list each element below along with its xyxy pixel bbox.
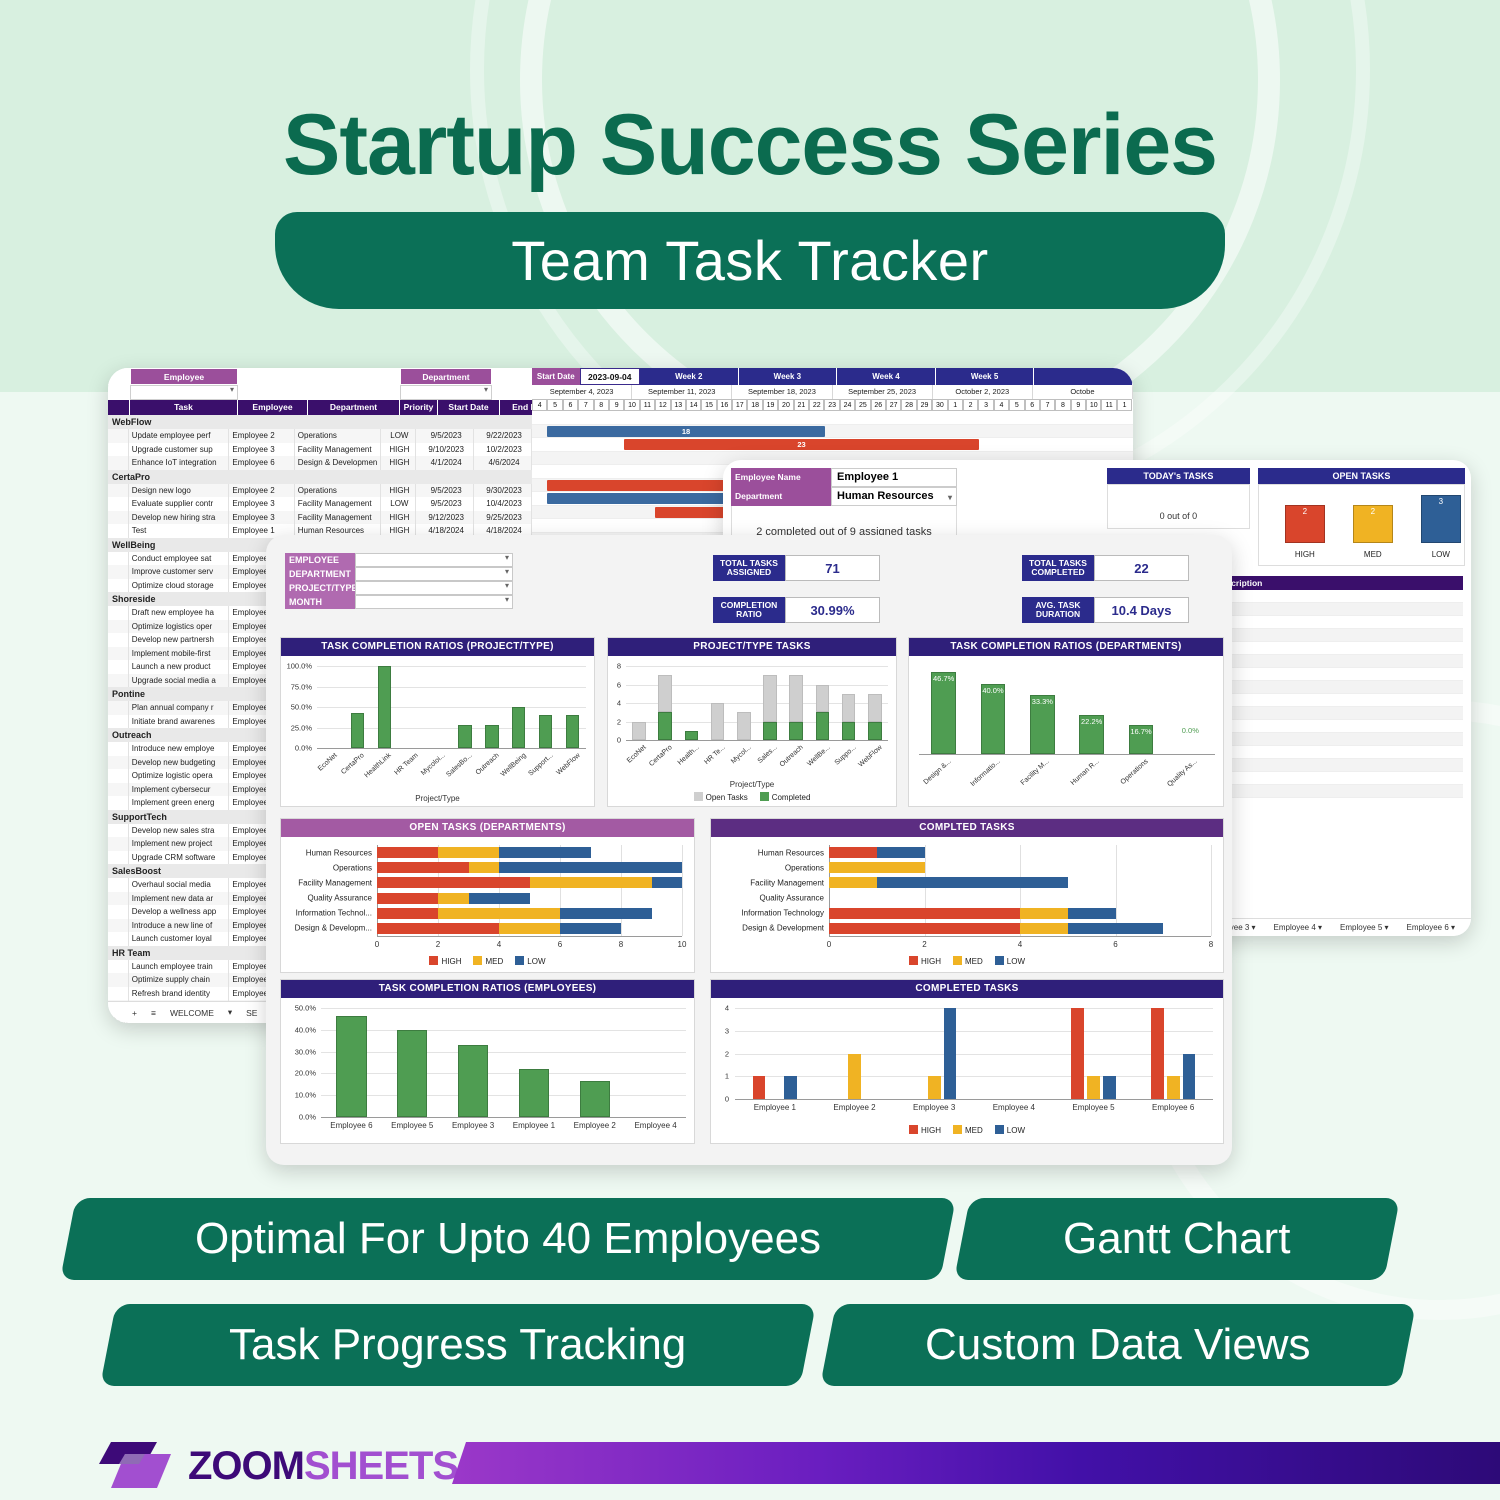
logo-text-zoom: ZOOM [188,1444,304,1488]
feature-badge-1-label: Optimal For Upto 40 Employees [195,1214,821,1264]
x-axis-tick-label: Employee 4 [625,1121,686,1130]
y-axis-tick-label: Facility Management [711,878,824,887]
bar-high [829,847,877,858]
open-task-bar: 3 [1421,495,1461,543]
task-cell: Employee 2 [229,429,294,443]
chart-card-ratios-employees: TASK COMPLETION RATIOS (EMPLOYEES) 50.0%… [280,979,695,1144]
gridline [626,666,888,667]
bar-data-label: 33.3% [1030,697,1055,706]
task-row[interactable]: Enhance IoT integrationEmployee 6Design … [108,456,532,470]
gantt-week-header: Start Date2023-09-04Week 2Week 3Week 4We… [532,368,1133,385]
legend-item: HIGH [909,956,941,966]
gantt-day-cell: 4 [994,399,1009,411]
gantt-date-header: September 4, 2023September 11, 2023Septe… [532,385,1133,399]
gantt-day-cell: 22 [809,399,824,411]
task-cell: Implement new data ar [129,892,230,906]
x-axis-tick-label: 2 [922,940,926,949]
task-group-header: WebFlow [108,415,532,429]
y-axis-tick: 10.0% [281,1091,316,1100]
employee-filter-label: Employee [130,368,238,385]
gridline [1211,845,1212,936]
x-axis-tick-label: Human R... [1060,758,1100,795]
task-cell: Employee 3 [229,443,294,457]
task-cell: Employee 3 [229,511,294,525]
x-axis-tick-label: 0 [375,940,379,949]
bar-low [499,862,682,873]
gantt-day-cell: 10 [1086,399,1101,411]
bar-low [877,877,1068,888]
gantt-day-cell: 9 [609,399,624,411]
gridline [321,1030,686,1031]
bar-med [1087,1076,1100,1099]
bar-open [842,694,856,722]
task-row[interactable]: Update employee perfEmployee 2Operations… [108,429,532,443]
task-cell: Implement cybersecur [129,783,230,797]
employee-tab[interactable]: Employee 4 ▾ [1274,923,1322,932]
filter-label-department: DEPARTMENT [285,567,355,581]
bar-high [377,923,499,934]
x-axis-tick-label: Employee 6 [321,1121,382,1130]
gantt-date-cell: September 11, 2023 [632,385,732,399]
bar-med [530,877,652,888]
bar-low [1068,908,1116,919]
bar-completed [685,731,699,740]
bar-low [944,1008,957,1099]
gridline [735,1054,1213,1055]
kpi-label: TOTAL TASKS COMPLETED [1022,555,1094,581]
gantt-day-cell: 25 [855,399,870,411]
gridline [621,845,622,936]
col-task: Task [130,400,238,415]
today-tasks-header: TODAY's TASKS [1107,468,1250,484]
bar-high [829,923,1020,934]
gantt-day-cell: 16 [717,399,732,411]
x-axis-title: Project/Type [608,780,896,789]
kpi-total-tasks-completed: TOTAL TASKS COMPLETED 22 [1022,555,1189,581]
y-axis-tick-label: Design & Development [711,924,824,933]
x-axis-tick-label: Facility M... [1011,758,1051,795]
gantt-day-cell: 7 [1040,399,1055,411]
task-cell: 9/5/2023 [416,484,474,498]
bar-open [816,685,830,713]
gantt-day-cell: 6 [1025,399,1040,411]
feature-badge-1: Optimal For Upto 40 Employees [60,1198,956,1280]
feature-badge-3-label: Task Progress Tracking [229,1320,686,1370]
legend-item: HIGH [429,956,461,966]
y-axis-tick-label: Design & Developm... [281,924,372,933]
task-cell: Overhaul social media [129,878,230,892]
y-axis-tick: 4 [711,1004,729,1013]
filter-select-department[interactable] [355,567,513,581]
chart-title: OPEN TASKS (DEPARTMENTS) [281,819,694,837]
x-axis-tick-label: Informatio... [961,758,1001,795]
task-cell: Develop new budgeting [129,756,230,770]
bar-data-label: 40.0% [981,686,1006,695]
gantt-date-cell: October 2, 2023 [933,385,1033,399]
bar-open [711,703,725,740]
task-cell: HIGH [381,456,417,470]
gantt-row [532,411,1133,425]
bar-med [499,923,560,934]
chart-card-completed-tasks-employees: COMPLETED TASKS 43210Employee 1Employee … [710,979,1224,1144]
gridline [317,687,586,688]
x-axis-tick-label: Quality As... [1159,758,1199,795]
filter-select-employee[interactable] [355,553,513,567]
bar-med [438,847,499,858]
employee-tab[interactable]: Employee 5 ▾ [1340,923,1388,932]
filter-select-month[interactable] [355,595,513,609]
chart-title: COMPLTED TASKS [711,819,1223,837]
task-cell: 9/30/2023 [474,484,532,498]
employee-department-label: Department [731,487,831,506]
chart-plot-area: 46.7%Design &...40.0%Informatio...33.3%F… [909,656,1223,806]
kpi-total-tasks-assigned: TOTAL TASKS ASSIGNED 71 [713,555,880,581]
task-cell: Facility Management [295,443,381,457]
gantt-day-cell: 17 [732,399,747,411]
bar-completed [789,722,803,741]
gantt-day-cell: 11 [640,399,655,411]
feature-badge-2: Gantt Chart [954,1198,1400,1280]
task-cell: Operations [295,484,381,498]
feature-badge-4-label: Custom Data Views [925,1320,1311,1370]
col-start-date: Start Date [438,400,500,415]
task-cell: Develop new hiring stra [129,511,230,525]
gridline [317,666,586,667]
kpi-label: TOTAL TASKS ASSIGNED [713,555,785,581]
col-department: Department [308,400,400,415]
y-axis-tick: 3 [711,1026,729,1035]
legend-item: LOW [515,956,545,966]
task-cell: Optimize logistic opera [129,769,230,783]
task-cell: Facility Management [295,497,381,511]
task-cell: Develop new sales stra [129,824,230,838]
gantt-day-cell: 19 [763,399,778,411]
x-axis-tick-label: Employee 3 [443,1121,504,1130]
chart-title: COMPLETED TASKS [711,980,1223,998]
gantt-day-header: 4567891011121314151617181920212223242526… [532,399,1133,411]
task-row[interactable]: Design new logoEmployee 2OperationsHIGH9… [108,484,532,498]
gantt-date-cell: Octobe [1033,385,1133,399]
gantt-day-cell: 15 [701,399,716,411]
zoomsheets-logo-icon [95,1440,173,1492]
gantt-day-cell: 1 [1117,399,1132,411]
gantt-day-cell: 5 [1009,399,1024,411]
gantt-week-cell: Week 5 [936,368,1035,385]
bar [397,1030,427,1117]
y-axis-tick-label: Operations [281,863,372,872]
bar-high [753,1076,766,1099]
gantt-day-cell: 4 [532,399,547,411]
chevron-down-icon[interactable]: ▾ [228,1007,232,1018]
bar-open [658,675,672,712]
bar [458,1045,488,1117]
sheet-tab[interactable]: WELCOME [170,1008,214,1018]
bar-med [928,1076,941,1099]
bar-high [1071,1008,1084,1099]
bar-high [377,893,438,904]
task-cell: Improve customer serv [129,565,230,579]
gridline [321,1073,686,1074]
task-cell: Refresh brand identity [129,987,230,1001]
bar-low [652,877,683,888]
bar-med [848,1054,861,1100]
filter-label-employee: EMPLOYEE [285,553,355,567]
bar-low [1183,1054,1196,1100]
gantt-week-cell: Week 3 [739,368,838,385]
y-axis-tick: 20.0% [281,1069,316,1078]
task-cell: Upgrade customer sup [129,443,230,457]
chart-card-completed-tasks-departments: COMPLTED TASKS 02468Human ResourcesOpera… [710,818,1224,973]
gantt-day-cell: 9 [1071,399,1086,411]
kpi-label: AVG. TASK DURATION [1022,597,1094,623]
gantt-day-cell: 27 [886,399,901,411]
logo-text-sheets: SHEETS [304,1444,458,1488]
gantt-day-cell: 18 [747,399,762,411]
bar-med [829,877,877,888]
y-axis-tick: 100.0% [281,662,312,671]
task-cell: Employee 6 [229,456,294,470]
gantt-day-cell: 23 [824,399,839,411]
y-axis-tick: 6 [608,680,621,689]
bar [931,672,956,754]
gridline [321,1008,686,1009]
gantt-day-cell: 8 [1055,399,1070,411]
task-cell: Test [129,524,230,538]
task-cell: Upgrade CRM software [129,851,230,865]
sheet-tab[interactable]: SE [246,1008,257,1018]
gantt-day-cell: 21 [794,399,809,411]
y-axis-tick-label: Quality Assurance [711,894,824,903]
legend-item: MED [953,956,983,966]
y-axis-tick-label: Human Resources [281,848,372,857]
open-task-column: 3 [1421,495,1461,543]
task-row[interactable]: Upgrade customer supEmployee 3Facility M… [108,443,532,457]
bar [485,725,498,748]
bar-open [763,675,777,721]
zoomsheets-logo-text: ZOOMSHEETS [188,1444,458,1489]
task-cell: Implement green energ [129,796,230,810]
task-cell: Launch customer loyal [129,932,230,946]
bar [458,725,471,748]
gantt-day-cell: 11 [1101,399,1116,411]
kpi-label: COMPLETION RATIO [713,597,785,623]
y-axis-tick-label: Information Technology [711,909,824,918]
sheet-tab[interactable]: + [132,1008,137,1018]
task-cell: Introduce new employe [129,742,230,756]
bar-open [737,712,751,740]
task-cell: Develop new partnersh [129,633,230,647]
legend-item: LOW [995,1125,1025,1135]
task-cell: 4/6/2024 [474,456,532,470]
chart-title: TASK COMPLETION RATIOS (DEPARTMENTS) [909,638,1223,656]
task-cell: HIGH [381,443,417,457]
open-task-label: LOW [1421,550,1461,559]
feature-badge-3: Task Progress Tracking [100,1304,816,1386]
kpi-value: 10.4 Days [1094,597,1189,623]
gantt-day-cell: 13 [671,399,686,411]
bar-low [469,893,530,904]
gridline [321,1052,686,1053]
y-axis-tick: 1 [711,1072,729,1081]
chart-plot-area: 50.0%40.0%30.0%20.0%10.0%0.0%Employee 6E… [281,998,694,1143]
bar [378,666,391,748]
chart-title: TASK COMPLETION RATIOS (EMPLOYEES) [281,980,694,998]
task-row[interactable]: Develop new hiring straEmployee 3Facilit… [108,511,532,525]
bar-completed [868,722,882,741]
task-cell: Implement new project [129,837,230,851]
legend-item: LOW [995,956,1025,966]
x-axis-tick-label: Employee 4 [974,1103,1054,1112]
y-axis-tick-label: Facility Management [281,878,372,887]
bar [580,1081,610,1117]
y-axis-tick-label: Human Resources [711,848,824,857]
legend-item: HIGH [909,1125,941,1135]
gantt-day-cell: 26 [871,399,886,411]
task-cell: 9/12/2023 [416,511,474,525]
col-priority: Priority [400,400,438,415]
y-axis-tick: 0.0% [281,744,312,753]
task-cell: Launch employee train [129,960,230,974]
bar-high [1151,1008,1164,1099]
task-cell: Employee 3 [229,497,294,511]
y-axis-tick: 0 [711,1095,729,1104]
today-tasks-value: 0 out of 0 [1107,484,1250,529]
y-axis-tick: 4 [608,699,621,708]
employee-tab[interactable]: Employee 6 ▾ [1407,923,1455,932]
task-cell: Implement mobile-first [129,647,230,661]
bar-completed [658,712,672,740]
filter-label-month: MONTH [285,595,355,609]
x-axis-tick-label: 6 [1113,940,1117,949]
legend-item: MED [473,956,503,966]
filter-select-project-type[interactable] [355,581,513,595]
chart-plot-area: 0246810Human ResourcesOperationsFacility… [281,837,694,972]
open-task-label: HIGH [1285,550,1325,559]
gridline [735,1008,1213,1009]
x-axis-tick-label: Employee 6 [1133,1103,1213,1112]
task-cell: Conduct employee sat [129,552,230,566]
task-cell: Draft new employee ha [129,606,230,620]
bar-open [632,722,646,741]
task-row[interactable]: Evaluate supplier contrEmployee 3Facilit… [108,497,532,511]
sheet-tab[interactable]: ≡ [151,1008,156,1018]
task-cell: 9/25/2023 [474,511,532,525]
open-task-bar: 2 [1285,505,1325,543]
task-cell: Facility Management [295,511,381,525]
y-axis-tick: 0.0% [281,1113,316,1122]
chart-legend: HIGHMEDLOW [711,1125,1223,1135]
gantt-day-cell: 7 [578,399,593,411]
gantt-day-cell: 30 [932,399,947,411]
open-tasks-block: OPEN TASKS 2HIGH2MED3LOW [1258,468,1465,566]
kpi-value: 22 [1094,555,1189,581]
employee-filter-select[interactable] [130,385,238,400]
gridline [317,707,586,708]
gantt-start-date-label: Start Date [532,368,580,385]
x-axis-tick-label: Employee 5 [1054,1103,1134,1112]
gridline [682,845,683,936]
gantt-day-cell: 29 [917,399,932,411]
bar [336,1016,366,1117]
gantt-day-cell: 20 [778,399,793,411]
x-axis-tick-label: 8 [619,940,623,949]
gridline [321,1095,686,1096]
task-cell: 9/5/2023 [416,429,474,443]
y-axis-tick: 75.0% [281,682,312,691]
bar-high [377,847,438,858]
y-axis-tick-label: Quality Assurance [281,894,372,903]
gantt-day-cell: 5 [547,399,562,411]
task-cell: Launch a new product [129,660,230,674]
dashboard-filters[interactable]: EMPLOYEE DEPARTMENT PROJECT/TYPE MONTH [285,553,513,609]
gantt-bar[interactable]: 18 [547,426,824,437]
x-axis-line [626,740,888,741]
gantt-day-cell: 10 [624,399,639,411]
chart-card-ratios-project: TASK COMPLETION RATIOS (PROJECT/TYPE) 10… [280,637,595,807]
gantt-start-date-value[interactable]: 2023-09-04 [580,368,640,385]
chart-legend: Open TasksCompleted [608,792,896,802]
task-cell: 10/2/2023 [474,443,532,457]
employee-name-value[interactable]: Employee 1 [831,468,957,487]
x-axis-tick-label: Employee 1 [504,1121,565,1130]
y-axis-tick: 30.0% [281,1047,316,1056]
kpi-value: 30.99% [785,597,880,623]
footer: ZOOMSHEETS [0,1428,1500,1500]
gantt-date-cell: September 25, 2023 [833,385,933,399]
x-axis-tick-label: Employee 3 [894,1103,974,1112]
chart-card-project-tasks: PROJECT/TYPE TASKS 86420EcoNetCertaProHe… [607,637,897,807]
chart-legend: HIGHMEDLOW [711,956,1223,966]
gantt-bar[interactable]: 23 [624,439,978,450]
chart-card-ratios-departments: TASK COMPLETION RATIOS (DEPARTMENTS) 46.… [908,637,1224,807]
bar-low [560,908,652,919]
open-task-column: 2 [1353,505,1393,543]
task-cell: Optimize supply chain [129,973,230,987]
chart-title: PROJECT/TYPE TASKS [608,638,896,656]
task-cell: 4/1/2024 [416,456,474,470]
chart-plot-area: 100.0%75.0%50.0%25.0%0.0%EcoNetCertaProH… [281,656,594,806]
bar-med [469,862,500,873]
department-filter-select[interactable] [400,385,492,400]
kpi-completion-ratio: COMPLETION RATIO 30.99% [713,597,880,623]
open-task-column: 2 [1285,505,1325,543]
bar-med [1020,923,1068,934]
gantt-day-cell: 2 [963,399,978,411]
footer-gradient-bar [452,1442,1500,1484]
open-task-label: MED [1353,550,1393,559]
task-cell: Enhance IoT integration [129,456,230,470]
employee-department-select[interactable]: Human Resources [831,487,957,506]
chart-title: TASK COMPLETION RATIOS (PROJECT/TYPE) [281,638,594,656]
bar-data-label: 22.2% [1079,717,1104,726]
task-cell: HIGH [381,511,417,525]
filter-label-project-type: PROJECT/TYPE [285,581,355,595]
chart-plot-area: 43210Employee 1Employee 2Employee 3Emplo… [711,998,1223,1143]
x-axis-line [377,936,682,937]
bar-med [438,893,469,904]
bar-low [499,847,591,858]
task-cell: Employee 2 [229,484,294,498]
x-axis-tick-label: Employee 2 [815,1103,895,1112]
x-axis-line [321,1117,686,1118]
chart-plot-area: 86420EcoNetCertaProHealth...HR Te...Myco… [608,656,896,806]
x-axis-line [317,748,586,749]
legend-item: MED [953,1125,983,1135]
gantt-date-cell: September 18, 2023 [732,385,832,399]
gantt-week-cell: Week 4 [837,368,936,385]
department-filter-label: Department [400,368,492,385]
x-axis-tick-label: 10 [678,940,687,949]
